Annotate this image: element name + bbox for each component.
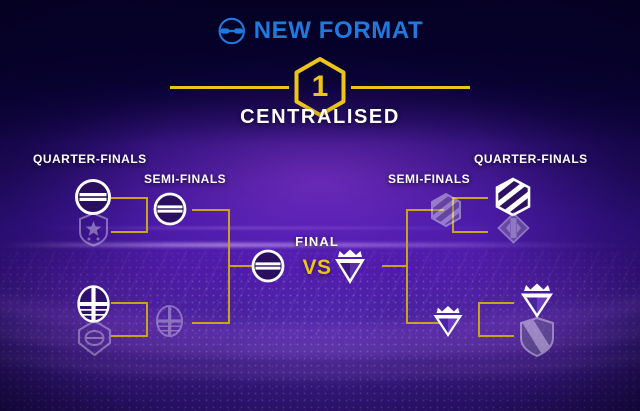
badge-crown-triangle-finalist-right	[332, 248, 368, 286]
badge-shield-star-left-qf2	[78, 212, 109, 247]
badge-pentagon-ring-left-qf4	[76, 319, 113, 357]
label-right-quarter-finals: QUARTER-FINALS	[474, 152, 588, 166]
connector-left-qf2-bottom	[111, 231, 148, 233]
label-left-semi-finals: SEMI-FINALS	[144, 172, 226, 186]
tournament-bracket: QUARTER-FINALS SEMI-FINALS SEMI-FINALS Q…	[0, 0, 640, 411]
badge-oval-cross-left-qf3	[76, 285, 111, 323]
badge-hexagon-stripes-right-sf1	[428, 192, 464, 228]
label-final: FINAL	[295, 234, 339, 249]
connector-right-qf-lower-v	[478, 302, 480, 337]
connector-right-qf3-top	[478, 302, 514, 304]
connector-right-qf2-bottom	[452, 231, 488, 233]
badge-shield-stripe-right-qf4	[518, 316, 556, 358]
badge-circle-band-finalist-left	[250, 248, 286, 284]
label-right-semi-finals: SEMI-FINALS	[388, 172, 470, 186]
connector-left-qf3-top	[111, 302, 148, 304]
label-left-quarter-finals: QUARTER-FINALS	[33, 152, 147, 166]
connector-right-sf-v	[406, 209, 408, 324]
badge-oval-cross-left-sf2	[155, 305, 184, 337]
badge-circle-band-left-qf1	[73, 177, 113, 217]
badge-crown-triangle-right-sf2	[431, 305, 465, 339]
connector-left-qf-upper-v	[146, 197, 148, 233]
connector-left-qf4-bottom	[111, 335, 148, 337]
connector-left-sf1	[192, 209, 230, 211]
badge-diamond-right-qf2	[497, 212, 530, 244]
connector-left-to-final	[228, 265, 252, 267]
connector-right-qf4-bottom	[478, 335, 514, 337]
badge-circle-band-left-sf1	[152, 191, 188, 227]
connector-left-sf2	[192, 322, 230, 324]
label-vs: VS	[302, 256, 331, 280]
badge-crown-triangle-right-qf3	[518, 282, 556, 320]
connector-left-qf1-top	[111, 197, 148, 199]
connector-left-qf-lower-v	[146, 302, 148, 337]
connector-right-to-final	[382, 265, 408, 267]
graphic-canvas: NEW FORMAT 1 CENTRALISED QUARTER-FINALS …	[0, 0, 640, 411]
